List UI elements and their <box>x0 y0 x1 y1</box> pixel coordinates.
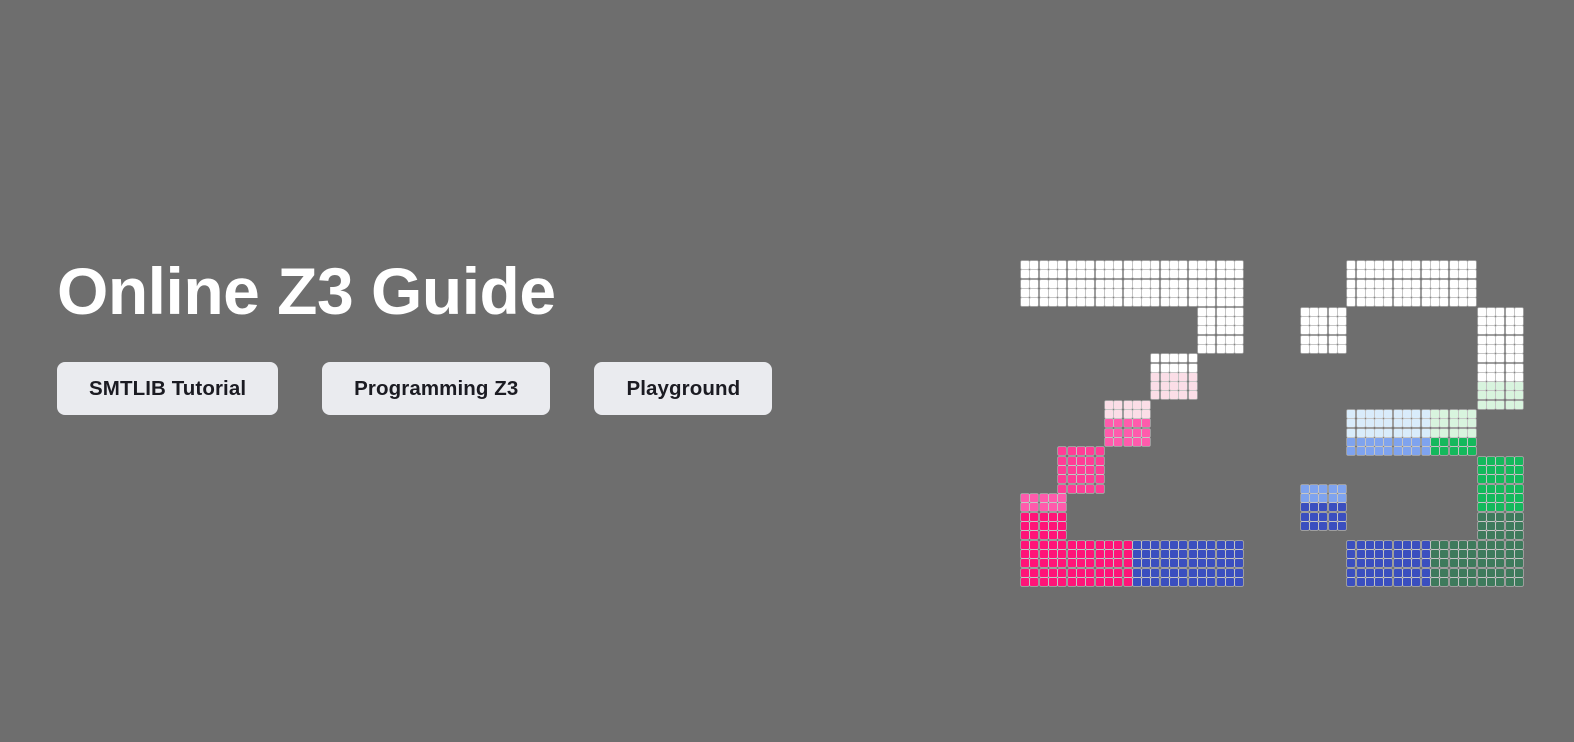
logo-pixel-cell <box>1077 485 1085 493</box>
logo-pixel-cell <box>1394 429 1402 437</box>
logo-pixel-cell <box>1058 494 1066 502</box>
logo-pixel-cell <box>1412 541 1420 549</box>
logo-pixel-cell <box>1040 541 1048 549</box>
logo-pixel-cell <box>1357 270 1365 278</box>
logo-pixel-cell <box>1375 569 1383 577</box>
logo-pixel-cell <box>1375 261 1383 269</box>
logo-pixel-cell <box>1506 522 1514 530</box>
logo-pixel-cell <box>1068 475 1076 483</box>
logo-pixel-cell <box>1105 270 1113 278</box>
logo-pixel-cell <box>1384 280 1392 288</box>
logo-pixel-cell <box>1506 401 1514 409</box>
logo-pixel-cell <box>1049 280 1057 288</box>
logo-pixel-cell <box>1375 559 1383 567</box>
logo-pixel-cell <box>1440 410 1448 418</box>
logo-pixel-cell <box>1375 541 1383 549</box>
logo-pixel-cell <box>1114 261 1122 269</box>
logo-pixel-cell <box>1394 559 1402 567</box>
logo-pixel-cell <box>1375 438 1383 446</box>
logo-pixel-cell <box>1422 569 1430 577</box>
logo-pixel-cell <box>1422 447 1430 455</box>
logo-pixel-cell <box>1301 503 1309 511</box>
logo-pixel-cell <box>1515 401 1523 409</box>
logo-pixel-cell <box>1086 578 1094 586</box>
logo-pixel-cell <box>1142 280 1150 288</box>
logo-pixel-cell <box>1506 457 1514 465</box>
logo-pixel-cell <box>1468 550 1476 558</box>
logo-pixel-cell <box>1114 289 1122 297</box>
logo-pixel-cell <box>1151 550 1159 558</box>
logo-pixel-cell <box>1394 541 1402 549</box>
logo-pixel-cell <box>1366 270 1374 278</box>
logo-pixel-cell <box>1179 569 1187 577</box>
logo-pixel-cell <box>1515 578 1523 586</box>
logo-pixel-cell <box>1459 541 1467 549</box>
logo-pixel-cell <box>1487 317 1495 325</box>
logo-pixel-cell <box>1319 503 1327 511</box>
logo-pixel-cell <box>1058 457 1066 465</box>
logo-pixel-cell <box>1440 280 1448 288</box>
logo-pixel-cell <box>1226 289 1234 297</box>
logo-pixel-cell <box>1496 569 1504 577</box>
logo-pixel-cell <box>1422 419 1430 427</box>
logo-pixel-cell <box>1384 298 1392 306</box>
logo-pixel-cell <box>1179 559 1187 567</box>
logo-pixel-cell <box>1515 550 1523 558</box>
logo-pixel-cell <box>1506 382 1514 390</box>
logo-pixel-cell <box>1422 270 1430 278</box>
logo-pixel-cell <box>1077 298 1085 306</box>
logo-pixel-cell <box>1384 419 1392 427</box>
logo-pixel-cell <box>1096 457 1104 465</box>
logo-pixel-cell <box>1506 559 1514 567</box>
logo-pixel-cell <box>1403 447 1411 455</box>
logo-pixel-cell <box>1422 429 1430 437</box>
logo-pixel-cell <box>1096 475 1104 483</box>
logo-pixel-cell <box>1515 559 1523 567</box>
logo-pixel-cell <box>1487 308 1495 316</box>
logo-pixel-cell <box>1049 531 1057 539</box>
logo-pixel-cell <box>1478 345 1486 353</box>
logo-pixel-cell <box>1021 298 1029 306</box>
logo-pixel-cell <box>1319 326 1327 334</box>
logo-pixel-cell <box>1478 494 1486 502</box>
logo-pixel-cell <box>1347 550 1355 558</box>
logo-pixel-cell <box>1151 280 1159 288</box>
logo-pixel-cell <box>1133 550 1141 558</box>
logo-pixel-cell <box>1515 485 1523 493</box>
logo-pixel-cell <box>1394 447 1402 455</box>
logo-pixel-cell <box>1142 410 1150 418</box>
logo-pixel-cell <box>1189 541 1197 549</box>
logo-pixel-cell <box>1412 280 1420 288</box>
logo-pixel-cell <box>1329 308 1337 316</box>
logo-pixel-cell <box>1440 438 1448 446</box>
logo-pixel-cell <box>1338 336 1346 344</box>
logo-pixel-cell <box>1459 261 1467 269</box>
logo-pixel-cell <box>1179 541 1187 549</box>
logo-pixel-cell <box>1403 298 1411 306</box>
logo-pixel-cell <box>1403 569 1411 577</box>
logo-pixel-cell <box>1077 289 1085 297</box>
logo-pixel-cell <box>1049 494 1057 502</box>
logo-pixel-cell <box>1114 429 1122 437</box>
logo-pixel-cell <box>1030 503 1038 511</box>
logo-pixel-cell <box>1487 559 1495 567</box>
logo-pixel-cell <box>1189 261 1197 269</box>
logo-pixel-cell <box>1124 578 1132 586</box>
logo-pixel-cell <box>1310 345 1318 353</box>
logo-pixel-cell <box>1040 280 1048 288</box>
logo-pixel-cell <box>1496 559 1504 567</box>
logo-pixel-cell <box>1412 559 1420 567</box>
logo-pixel-cell <box>1021 261 1029 269</box>
logo-pixel-cell <box>1151 578 1159 586</box>
logo-pixel-cell <box>1170 298 1178 306</box>
logo-pixel-cell <box>1384 289 1392 297</box>
logo-pixel-cell <box>1375 289 1383 297</box>
logo-pixel-cell <box>1357 447 1365 455</box>
logo-pixel-cell <box>1431 578 1439 586</box>
logo-pixel-cell <box>1021 550 1029 558</box>
logo-pixel-cell <box>1077 457 1085 465</box>
logo-pixel-cell <box>1161 298 1169 306</box>
logo-pixel-cell <box>1189 280 1197 288</box>
logo-pixel-cell <box>1403 559 1411 567</box>
logo-pixel-cell <box>1226 541 1234 549</box>
logo-pixel-cell <box>1207 317 1215 325</box>
playground-button[interactable]: Playground <box>594 362 772 415</box>
logo-pixel-cell <box>1366 438 1374 446</box>
logo-pixel-cell <box>1487 494 1495 502</box>
logo-pixel-cell <box>1040 569 1048 577</box>
logo-pixel-cell <box>1506 569 1514 577</box>
logo-pixel-cell <box>1040 298 1048 306</box>
logo-pixel-cell <box>1440 559 1448 567</box>
logo-pixel-cell <box>1151 298 1159 306</box>
logo-pixel-cell <box>1114 578 1122 586</box>
logo-pixel-cell <box>1422 541 1430 549</box>
logo-pixel-cell <box>1375 298 1383 306</box>
logo-pixel-cell <box>1496 475 1504 483</box>
logo-pixel-cell <box>1478 513 1486 521</box>
logo-pixel-cell <box>1049 261 1057 269</box>
logo-pixel-cell <box>1030 289 1038 297</box>
logo-pixel-cell <box>1114 569 1122 577</box>
logo-pixel-cell <box>1207 550 1215 558</box>
logo-pixel-cell <box>1515 494 1523 502</box>
logo-pixel-cell <box>1496 326 1504 334</box>
logo-pixel-cell <box>1487 485 1495 493</box>
logo-pixel-cell <box>1319 308 1327 316</box>
logo-pixel-cell <box>1049 522 1057 530</box>
logo-pixel-cell <box>1151 261 1159 269</box>
logo-pixel-cell <box>1096 559 1104 567</box>
logo-pixel-cell <box>1058 475 1066 483</box>
logo-pixel-cell <box>1207 578 1215 586</box>
logo-pixel-cell <box>1440 419 1448 427</box>
logo-pixel-cell <box>1366 261 1374 269</box>
logo-pixel-cell <box>1506 550 1514 558</box>
logo-pixel-cell <box>1151 270 1159 278</box>
logo-pixel-cell <box>1487 569 1495 577</box>
logo-pixel-cell <box>1384 541 1392 549</box>
logo-pixel-cell <box>1384 569 1392 577</box>
logo-pixel-cell <box>1105 298 1113 306</box>
logo-pixel-cell <box>1496 550 1504 558</box>
logo-pixel-cell <box>1124 438 1132 446</box>
logo-pixel-cell <box>1198 261 1206 269</box>
logo-pixel-cell <box>1217 345 1225 353</box>
logo-pixel-cell <box>1459 410 1467 418</box>
logo-pixel-cell <box>1198 280 1206 288</box>
logo-pixel-cell <box>1207 280 1215 288</box>
logo-pixel-cell <box>1207 559 1215 567</box>
logo-pixel-cell <box>1086 485 1094 493</box>
logo-pixel-cell <box>1030 270 1038 278</box>
logo-pixel-cell <box>1338 485 1346 493</box>
logo-pixel-cell <box>1077 280 1085 288</box>
logo-pixel-cell <box>1077 550 1085 558</box>
logo-pixel-cell <box>1058 289 1066 297</box>
logo-pixel-cell <box>1496 382 1504 390</box>
logo-pixel-cell <box>1347 541 1355 549</box>
logo-pixel-cell <box>1105 280 1113 288</box>
logo-pixel-cell <box>1179 550 1187 558</box>
logo-pixel-cell <box>1161 280 1169 288</box>
logo-pixel-cell <box>1403 289 1411 297</box>
logo-pixel-cell <box>1496 391 1504 399</box>
logo-pixel-cell <box>1506 541 1514 549</box>
logo-pixel-cell <box>1142 289 1150 297</box>
logo-pixel-cell <box>1077 569 1085 577</box>
logo-pixel-cell <box>1086 270 1094 278</box>
page-title: Online Z3 Guide <box>57 258 957 324</box>
logo-pixel-cell <box>1077 559 1085 567</box>
logo-pixel-cell <box>1329 494 1337 502</box>
logo-pixel-cell <box>1040 261 1048 269</box>
logo-pixel-cell <box>1338 326 1346 334</box>
logo-pixel-cell <box>1515 569 1523 577</box>
logo-pixel-cell <box>1151 364 1159 372</box>
logo-pixel-cell <box>1515 475 1523 483</box>
logo-pixel-cell <box>1170 364 1178 372</box>
logo-pixel-cell <box>1189 298 1197 306</box>
logo-pixel-cell <box>1496 345 1504 353</box>
hero-text-block: Online Z3 Guide SMTLIB Tutorial Programm… <box>57 258 957 415</box>
logo-pixel-cell <box>1170 280 1178 288</box>
logo-pixel-cell <box>1394 261 1402 269</box>
logo-pixel-cell <box>1459 559 1467 567</box>
logo-pixel-cell <box>1310 513 1318 521</box>
logo-pixel-cell <box>1459 270 1467 278</box>
logo-pixel-cell <box>1096 485 1104 493</box>
logo-pixel-cell <box>1217 308 1225 316</box>
logo-pixel-cell <box>1086 475 1094 483</box>
logo-pixel-cell <box>1431 550 1439 558</box>
logo-pixel-cell <box>1086 559 1094 567</box>
logo-pixel-cell <box>1142 261 1150 269</box>
logo-pixel-cell <box>1124 261 1132 269</box>
logo-pixel-cell <box>1170 578 1178 586</box>
logo-pixel-cell <box>1403 410 1411 418</box>
logo-pixel-cell <box>1496 466 1504 474</box>
logo-pixel-cell <box>1105 438 1113 446</box>
logo-pixel-cell <box>1049 513 1057 521</box>
logo-pixel-cell <box>1496 494 1504 502</box>
logo-pixel-cell <box>1478 457 1486 465</box>
logo-pixel-cell <box>1189 391 1197 399</box>
logo-pixel-cell <box>1217 336 1225 344</box>
logo-pixel-cell <box>1450 429 1458 437</box>
logo-pixel-cell <box>1207 289 1215 297</box>
logo-pixel-cell <box>1058 503 1066 511</box>
logo-pixel-cell <box>1338 317 1346 325</box>
logo-pixel-cell <box>1235 550 1243 558</box>
logo-pixel-cell <box>1198 298 1206 306</box>
logo-pixel-cell <box>1058 513 1066 521</box>
logo-pixel-cell <box>1440 270 1448 278</box>
logo-pixel-cell <box>1496 336 1504 344</box>
logo-pixel-cell <box>1198 326 1206 334</box>
logo-pixel-cell <box>1170 569 1178 577</box>
logo-pixel-cell <box>1226 336 1234 344</box>
logo-pixel-cell <box>1450 419 1458 427</box>
logo-pixel-cell <box>1226 569 1234 577</box>
logo-pixel-cell <box>1170 261 1178 269</box>
logo-pixel-cell <box>1040 289 1048 297</box>
logo-pixel-cell <box>1096 466 1104 474</box>
logo-pixel-cell <box>1468 298 1476 306</box>
logo-pixel-cell <box>1030 298 1038 306</box>
logo-pixel-cell <box>1375 419 1383 427</box>
logo-pixel-cell <box>1179 391 1187 399</box>
logo-pixel-cell <box>1226 326 1234 334</box>
logo-pixel-cell <box>1040 550 1048 558</box>
logo-pixel-cell <box>1478 541 1486 549</box>
programming-z3-button[interactable]: Programming Z3 <box>322 362 550 415</box>
logo-pixel-cell <box>1487 457 1495 465</box>
logo-pixel-cell <box>1459 429 1467 437</box>
logo-pixel-cell <box>1422 289 1430 297</box>
logo-pixel-cell <box>1207 298 1215 306</box>
logo-pixel-cell <box>1450 447 1458 455</box>
logo-pixel-cell <box>1068 569 1076 577</box>
logo-pixel-cell <box>1096 578 1104 586</box>
logo-pixel-cell <box>1459 280 1467 288</box>
logo-pixel-cell <box>1478 317 1486 325</box>
logo-pixel-cell <box>1133 419 1141 427</box>
logo-pixel-cell <box>1431 410 1439 418</box>
logo-pixel-cell <box>1133 559 1141 567</box>
logo-pixel-cell <box>1235 317 1243 325</box>
logo-pixel-cell <box>1021 513 1029 521</box>
logo-pixel-cell <box>1096 541 1104 549</box>
logo-pixel-cell <box>1133 541 1141 549</box>
logo-pixel-cell <box>1021 522 1029 530</box>
smtlib-tutorial-button[interactable]: SMTLIB Tutorial <box>57 362 278 415</box>
logo-pixel-cell <box>1077 466 1085 474</box>
logo-pixel-cell <box>1198 289 1206 297</box>
logo-pixel-cell <box>1198 270 1206 278</box>
logo-pixel-cell <box>1384 578 1392 586</box>
logo-pixel-cell <box>1496 503 1504 511</box>
logo-pixel-cell <box>1487 466 1495 474</box>
logo-pixel-cell <box>1375 447 1383 455</box>
logo-pixel-cell <box>1478 354 1486 362</box>
logo-pixel-cell <box>1468 569 1476 577</box>
logo-pixel-cell <box>1301 494 1309 502</box>
logo-pixel-cell <box>1217 550 1225 558</box>
logo-pixel-cell <box>1394 438 1402 446</box>
logo-pixel-cell <box>1412 569 1420 577</box>
logo-pixel-cell <box>1478 466 1486 474</box>
logo-pixel-cell <box>1235 569 1243 577</box>
logo-pixel-cell <box>1468 410 1476 418</box>
logo-pixel-cell <box>1487 550 1495 558</box>
logo-pixel-cell <box>1403 578 1411 586</box>
logo-pixel-cell <box>1515 373 1523 381</box>
logo-pixel-cell <box>1189 559 1197 567</box>
logo-pixel-cell <box>1459 438 1467 446</box>
logo-pixel-cell <box>1235 298 1243 306</box>
logo-pixel-cell <box>1487 354 1495 362</box>
logo-pixel-cell <box>1412 429 1420 437</box>
logo-pixel-cell <box>1338 503 1346 511</box>
logo-pixel-cell <box>1459 447 1467 455</box>
z3-pixel-logo <box>1021 261 1521 586</box>
logo-pixel-cell <box>1058 466 1066 474</box>
logo-pixel-cell <box>1170 354 1178 362</box>
logo-pixel-cell <box>1487 522 1495 530</box>
logo-pixel-cell <box>1487 541 1495 549</box>
logo-pixel-cell <box>1170 373 1178 381</box>
logo-pixel-cell <box>1217 326 1225 334</box>
logo-pixel-cell <box>1142 270 1150 278</box>
logo-pixel-cell <box>1403 261 1411 269</box>
logo-pixel-cell <box>1105 410 1113 418</box>
logo-pixel-cell <box>1440 541 1448 549</box>
logo-pixel-cell <box>1412 410 1420 418</box>
logo-pixel-cell <box>1030 261 1038 269</box>
logo-pixel-cell <box>1058 550 1066 558</box>
logo-pixel-cell <box>1496 354 1504 362</box>
logo-pixel-cell <box>1105 578 1113 586</box>
logo-pixel-cell <box>1412 550 1420 558</box>
logo-pixel-cell <box>1198 541 1206 549</box>
logo-pixel-cell <box>1226 578 1234 586</box>
logo-pixel-cell <box>1133 569 1141 577</box>
logo-pixel-cell <box>1301 326 1309 334</box>
logo-pixel-cell <box>1440 429 1448 437</box>
logo-pixel-cell <box>1357 541 1365 549</box>
logo-pixel-cell <box>1478 578 1486 586</box>
logo-pixel-cell <box>1338 308 1346 316</box>
logo-pixel-cell <box>1114 438 1122 446</box>
logo-pixel-cell <box>1170 541 1178 549</box>
logo-pixel-cell <box>1161 364 1169 372</box>
logo-pixel-cell <box>1394 280 1402 288</box>
logo-pixel-cell <box>1431 569 1439 577</box>
logo-pixel-cell <box>1347 429 1355 437</box>
logo-pixel-cell <box>1357 438 1365 446</box>
logo-pixel-cell <box>1068 298 1076 306</box>
logo-pixel-cell <box>1058 569 1066 577</box>
logo-pixel-cell <box>1086 261 1094 269</box>
logo-pixel-cell <box>1347 419 1355 427</box>
logo-pixel-cell <box>1189 364 1197 372</box>
logo-pixel-cell <box>1403 270 1411 278</box>
